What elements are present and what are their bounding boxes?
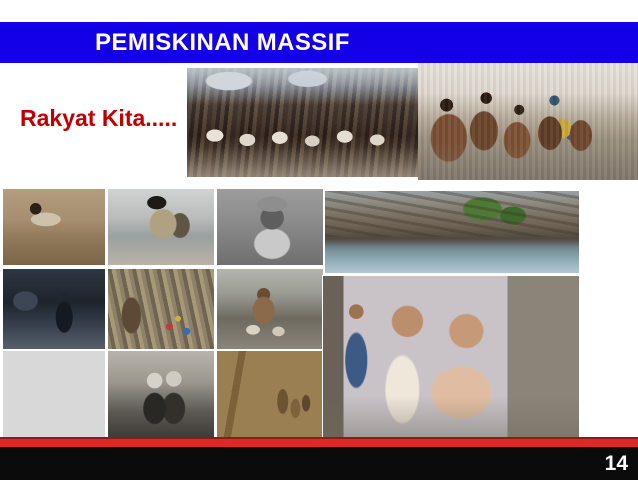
photo-grid-1-2: Small child walking alone carrying a lar… (107, 188, 215, 266)
photo-riverside-slum-image (325, 191, 579, 273)
photo-grid-2-1: Children begging between cars in traffic… (2, 268, 106, 350)
photo-papuan-children: Group of Papuan children sitting on bare… (418, 63, 638, 180)
photo-grid-2-3-image (217, 269, 323, 349)
photo-grid-3-1: Crying child in an orange shirt held in … (2, 350, 106, 439)
photo-grid-2-2: Children walking through a field of garb… (107, 268, 215, 350)
photo-grid-1-2-image (108, 189, 214, 265)
photo-grid-2-1-image (3, 269, 105, 349)
photo-grid-3-1-image (3, 351, 105, 438)
slide-canvas: PEMISKINAN MASSIF Rakyat Kita..... Crowd… (0, 0, 638, 480)
photo-fuel-queue-image (187, 68, 419, 177)
photo-grid-1-1: Child sleeping in a cardboard box agains… (2, 188, 106, 266)
photo-fuel-queue: Crowd of people queueing in a long line … (186, 67, 420, 178)
photo-papuan-children-image (418, 63, 638, 180)
footer-black-band (0, 447, 638, 480)
photo-riverside-slum: Riverside slum with stilt shanty houses … (324, 190, 580, 274)
photo-mother-and-child-image (323, 276, 579, 438)
photo-grid-3-3-image (217, 351, 323, 438)
page-title: PEMISKINAN MASSIF (95, 28, 595, 58)
photo-grid-3-3: Family standing under a makeshift wooden… (216, 350, 324, 439)
photo-grid-3-2-image (108, 351, 214, 438)
photo-grid-2-3: Child eating from a bowl while sitting o… (216, 268, 324, 350)
photo-grid-1-1-image (3, 189, 105, 265)
photo-grid-1-3: Black and white portrait of a child wear… (216, 188, 324, 266)
page-number: 14 (605, 452, 628, 476)
photo-mother-and-child: Mother holding a malnourished child with… (322, 275, 580, 439)
photo-grid-1-3-image (217, 189, 323, 265)
photo-grid-3-2: Black and white photo of two people seat… (107, 350, 215, 439)
subtitle-text: Rakyat Kita..... (20, 104, 177, 132)
photo-grid-2-2-image (108, 269, 214, 349)
